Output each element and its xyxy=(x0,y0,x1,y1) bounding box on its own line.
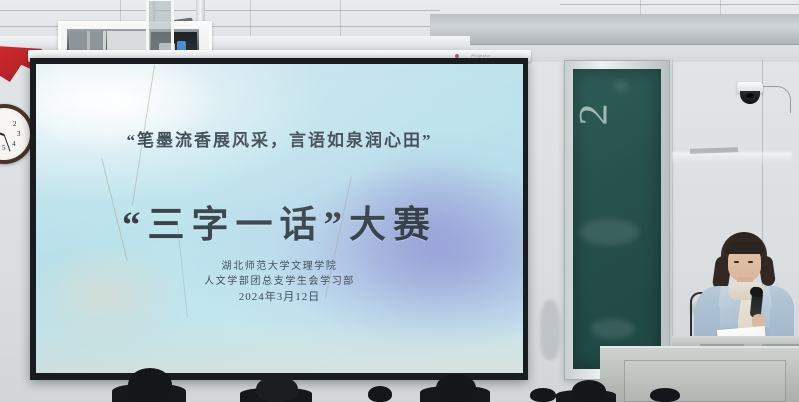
slide-main-title: “三字一话”大赛 xyxy=(36,194,523,248)
audience-head xyxy=(368,386,392,402)
slide-org-line-1: 湖北师范大学文理学院 xyxy=(36,260,523,275)
clock-numeral: 5 xyxy=(2,144,6,152)
clock-numeral: 3 xyxy=(17,130,21,138)
camera-cable xyxy=(760,86,791,113)
audience-head xyxy=(256,376,298,402)
classroom-scene: 2 3 4 5 Projector “笔墨流香展风采，言语如泉润心田” “三字一… xyxy=(0,0,799,402)
camera-lens-icon xyxy=(746,93,755,100)
chalkboard: 2 xyxy=(573,69,661,369)
slide-subtitle: “笔墨流香展风采，言语如泉润心田” xyxy=(36,126,523,151)
projection-screen[interactable]: “笔墨流香展风采，言语如泉润心田” “三字一话”大赛 湖北师范大学文理学院 人文… xyxy=(30,58,528,380)
audience-head xyxy=(436,374,476,402)
slide-date: 2024年3月12日 xyxy=(36,289,523,306)
clock-numeral: 4 xyxy=(12,140,16,148)
audience-head xyxy=(572,380,606,402)
wall-tape-residue xyxy=(672,152,792,166)
slide-wash-bottom xyxy=(36,317,523,373)
podium xyxy=(600,346,799,402)
chalkboard-frame: 2 xyxy=(564,60,670,380)
slide-wash-white xyxy=(36,64,270,175)
chalkboard-mark: 2 xyxy=(570,104,617,126)
slide-org-line-2: 人文学部团总支学生会学习部 xyxy=(36,275,523,290)
ceiling-beam xyxy=(430,14,799,45)
slide-credits: 湖北师范大学文理学院 人文学部团总支学生会学习部 2024年3月12日 xyxy=(36,260,523,306)
audience-head xyxy=(530,388,556,402)
audience-head xyxy=(650,388,680,402)
audience-head xyxy=(128,368,172,402)
clock-numeral: 2 xyxy=(13,120,17,128)
slide-canvas: “笔墨流香展风采，言语如泉润心田” “三字一话”大赛 湖北师范大学文理学院 人文… xyxy=(36,64,523,373)
wall-seam xyxy=(672,60,673,360)
